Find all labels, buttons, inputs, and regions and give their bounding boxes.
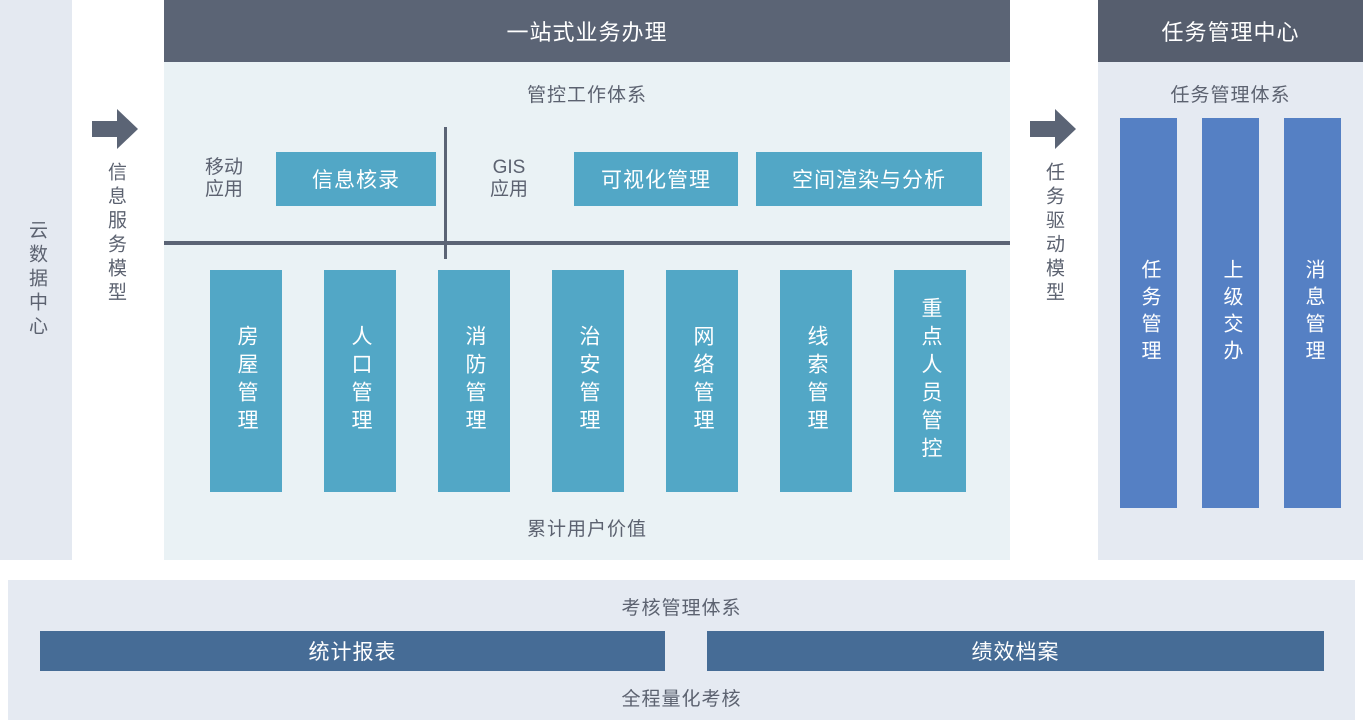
task-management-system-caption: 任务管理体系: [1098, 62, 1363, 107]
one-stop-panel-title: 一站式业务办理: [164, 0, 1010, 62]
assessment-management-panel: 考核管理体系 统计报表 绩效档案 全程量化考核: [8, 580, 1355, 720]
task-card-label: 任务管理: [1138, 259, 1159, 367]
cloud-data-center-panel: 云数据中心: [0, 0, 72, 560]
module-card-label: 房屋管理: [235, 325, 257, 437]
information-service-model-label: 信息服务模型: [105, 162, 125, 306]
assessment-bar-row: 统计报表 绩效档案: [8, 620, 1355, 671]
task-card-label: 上级交办: [1220, 259, 1241, 367]
one-stop-business-panel: 一站式业务办理 管控工作体系 移动 应用 信息核录 GIS 应用 可视化管理 空…: [164, 0, 1010, 560]
cloud-data-center-label: 云数据中心: [26, 220, 46, 340]
task-card-task-management[interactable]: 任务管理: [1120, 118, 1177, 508]
module-card-housing[interactable]: 房屋管理: [210, 270, 282, 492]
module-card-label: 线索管理: [805, 325, 827, 437]
module-card-label: 治安管理: [577, 325, 599, 437]
chip-visual-management[interactable]: 可视化管理: [574, 152, 738, 206]
assessment-bar-statistics-report[interactable]: 统计报表: [40, 631, 665, 671]
assessment-system-caption: 考核管理体系: [8, 580, 1355, 620]
module-card-label: 重点人员管控: [919, 297, 941, 465]
task-card-label: 消息管理: [1302, 259, 1323, 367]
chip-information-entry[interactable]: 信息核录: [276, 152, 436, 206]
module-card-key-personnel[interactable]: 重点人员管控: [894, 270, 966, 492]
assessment-bar-performance-archive[interactable]: 绩效档案: [707, 631, 1324, 671]
task-card-superior-assignment[interactable]: 上级交办: [1202, 118, 1259, 508]
module-card-label: 消防管理: [463, 325, 485, 437]
application-section-separator: [164, 241, 1010, 245]
module-card-label: 人口管理: [349, 325, 371, 437]
task-panel-title: 任务管理中心: [1098, 0, 1363, 62]
module-card-fire-control[interactable]: 消防管理: [438, 270, 510, 492]
gis-application-label: GIS 应用: [466, 157, 552, 202]
arrow-right-icon: [92, 108, 138, 150]
cumulative-user-value-caption: 累计用户价值: [164, 492, 1010, 541]
task-card-message-management[interactable]: 消息管理: [1284, 118, 1341, 508]
task-driven-flow: 任务驱动模型: [1024, 108, 1082, 306]
information-service-flow: 信息服务模型: [86, 108, 144, 306]
chip-spatial-render-analysis[interactable]: 空间渲染与分析: [756, 152, 982, 206]
module-card-population[interactable]: 人口管理: [324, 270, 396, 492]
module-card-public-security[interactable]: 治安管理: [552, 270, 624, 492]
application-layer-row: 移动 应用 信息核录 GIS 应用 可视化管理 空间渲染与分析: [164, 107, 1010, 241]
task-card-row: 任务管理 上级交办 消息管理: [1098, 107, 1363, 508]
task-management-center-panel: 任务管理中心 任务管理体系 任务管理 上级交办 消息管理: [1098, 0, 1363, 560]
module-card-row: 房屋管理 人口管理 消防管理 治安管理 网络管理 线索管理 重点人员管控: [164, 245, 1010, 492]
module-card-label: 网络管理: [691, 325, 713, 437]
module-card-network[interactable]: 网络管理: [666, 270, 738, 492]
task-driven-model-label: 任务驱动模型: [1043, 162, 1063, 306]
mobile-application-label: 移动 应用: [174, 157, 274, 202]
module-card-clue[interactable]: 线索管理: [780, 270, 852, 492]
full-process-quantitative-assessment-caption: 全程量化考核: [8, 671, 1355, 711]
arrow-right-icon: [1030, 108, 1076, 150]
control-work-system-caption: 管控工作体系: [164, 62, 1010, 107]
